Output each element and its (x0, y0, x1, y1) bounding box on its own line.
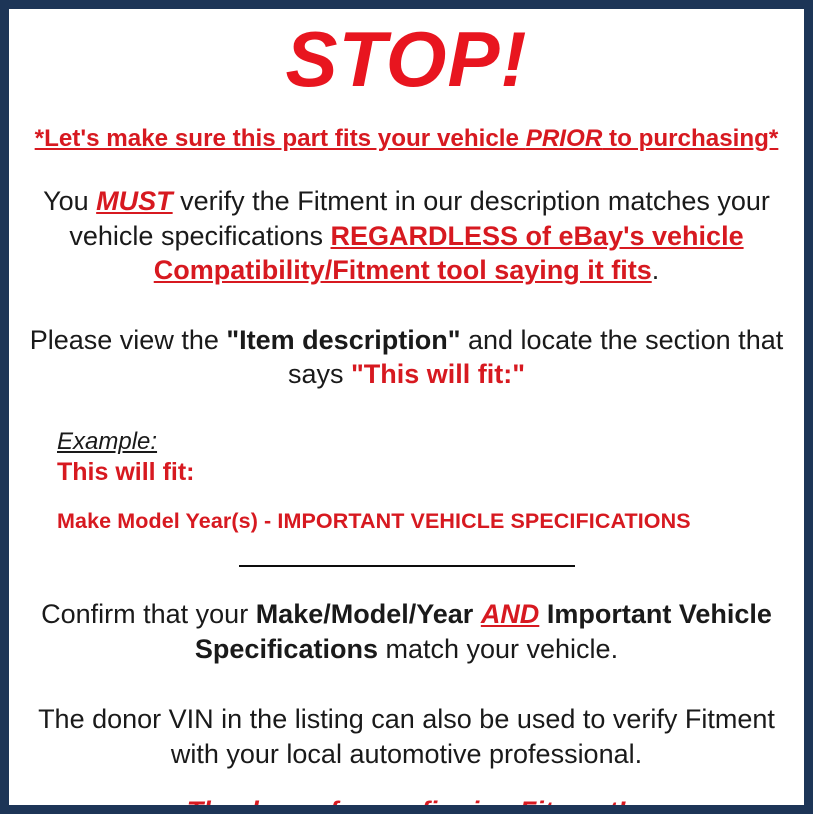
divider (9, 557, 804, 575)
subtitle-emphasis-prior: PRIOR (526, 125, 603, 152)
horizontal-rule (239, 565, 575, 567)
para2-emphasis-this-will-fit: "This will fit:" (351, 359, 525, 389)
para3-emphasis-make-model-year: Make/Model/Year (256, 599, 474, 629)
paragraph-donor-vin: The donor VIN in the listing can also be… (9, 702, 804, 771)
para3-segment-2 (473, 599, 481, 629)
para2-segment-1: Please view the (30, 325, 227, 355)
para3-segment-1: Confirm that your (41, 599, 256, 629)
para2-emphasis-item-description: "Item description" (226, 325, 460, 355)
paragraph-confirm-match: Confirm that your Make/Model/Year AND Im… (9, 597, 804, 666)
subtitle-text-before: *Let's make sure this part fits your veh… (35, 125, 526, 152)
para3-segment-3 (539, 599, 547, 629)
para1-emphasis-must: MUST (96, 186, 173, 216)
page-title: STOP! (9, 20, 804, 100)
para1-segment-3: . (652, 255, 660, 285)
para3-segment-4: match your vehicle. (378, 634, 618, 664)
paragraph-verify-fitment: You MUST verify the Fitment in our descr… (9, 184, 804, 288)
example-spec-line: Make Model Year(s) - IMPORTANT VEHICLE S… (57, 509, 804, 534)
para3-emphasis-and: AND (481, 599, 540, 629)
subtitle-banner: *Let's make sure this part fits your veh… (9, 126, 804, 153)
fitment-notice-image: STOP! *Let's make sure this part fits yo… (0, 0, 813, 814)
example-fit-heading: This will fit: (57, 457, 804, 487)
para1-segment-1: You (43, 186, 96, 216)
para4-segment-1: The donor VIN in the listing can also be… (38, 704, 775, 769)
paragraph-item-description: Please view the "Item description" and l… (9, 323, 804, 392)
thanks-message: Thank you for confirming Fitment! (9, 795, 804, 805)
subtitle-text-after: to purchasing* (602, 125, 778, 152)
notice-frame: STOP! *Let's make sure this part fits yo… (9, 9, 804, 805)
example-label: Example: (57, 428, 804, 456)
example-block: Example: This will fit: Make Model Year(… (9, 428, 804, 534)
